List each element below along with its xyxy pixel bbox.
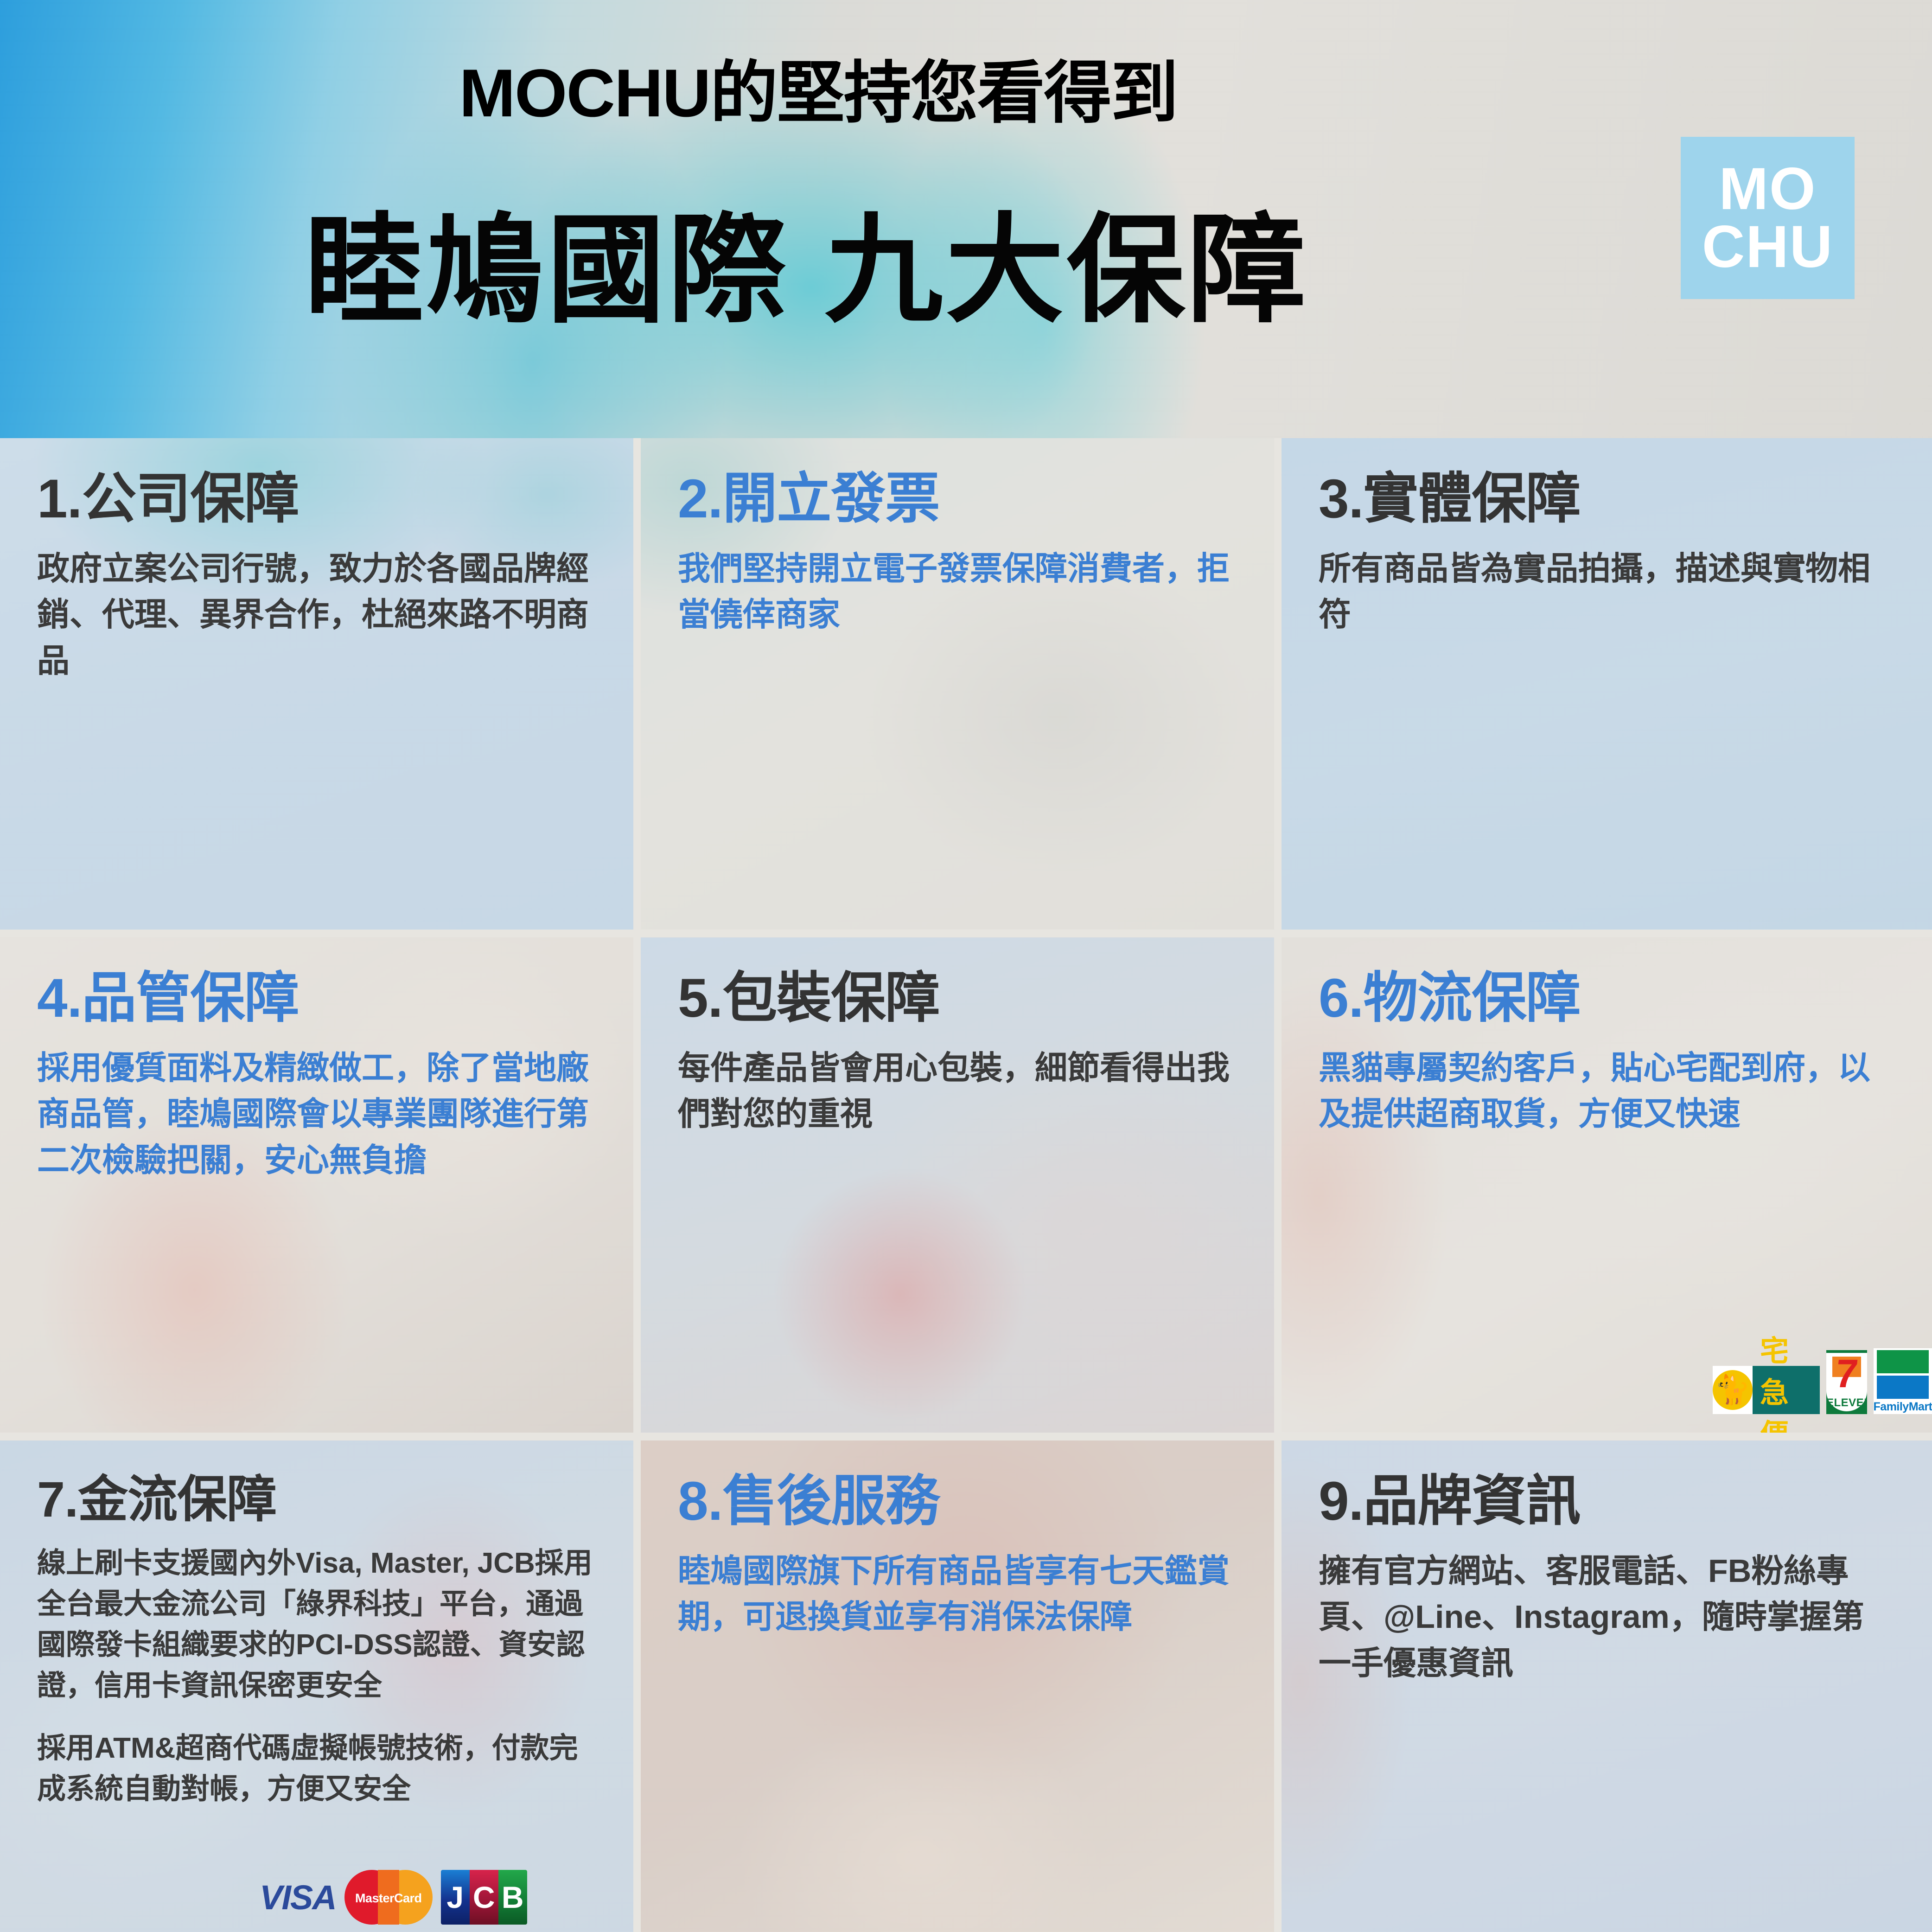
seven-eleven-logo: 7 ELEVEN <box>1826 1350 1867 1414</box>
guarantee-cell-8: 8.售後服務 睦鳩國際旗下所有商品皆享有七天鑑賞期，可退換貨並享有消保法保障 <box>641 1441 1274 1932</box>
mochu-logo-line-2: CHU <box>1702 218 1833 276</box>
familymart-label: FamilyMart <box>1874 1400 1932 1414</box>
guarantee-cell-3: 3.實體保障 所有商品皆為實品拍攝，描述與實物相符 <box>1282 438 1932 930</box>
guarantee-cell-2: 2.開立發票 我們堅持開立電子發票保障消費者，拒當僥倖商家 <box>641 438 1274 930</box>
familymart-logo: FamilyMart <box>1874 1348 1932 1414</box>
guarantee-body-1: 政府立案公司行號，致力於各國品牌經銷、代理、異界合作，杜絕來路不明商品 <box>37 546 596 684</box>
shipping-logo-row: 🐈 宅急便 7 ELEVEN FamilyMart <box>1713 1348 1932 1414</box>
guarantee-title-5: 5.包裝保障 <box>678 970 1237 1027</box>
guarantee-title-6: 6.物流保障 <box>1319 970 1895 1027</box>
black-cat-icon: 🐈 <box>1713 1366 1753 1414</box>
guarantee-body-7b: 採用ATM&超商代碼虛擬帳號技術，付款完成系統自動對帳，方便又安全 <box>37 1728 596 1810</box>
guarantee-body-9: 擁有官方網站、客服電話、FB粉絲專頁、@Line、Instagram，隨時掌握第… <box>1319 1548 1895 1686</box>
guarantee-title-7: 7.金流保障 <box>37 1473 596 1525</box>
guarantee-cell-1: 1.公司保障 政府立案公司行號，致力於各國品牌經銷、代理、異界合作，杜絕來路不明… <box>0 438 633 930</box>
card-logo-row: VISA MasterCard J C B <box>260 1870 527 1925</box>
jcb-logo: J C B <box>441 1870 527 1925</box>
mochu-logo-line-1: MO <box>1719 160 1816 218</box>
yamato-label: 宅急便 <box>1753 1366 1820 1414</box>
guarantee-body-4: 採用優質面料及精緻做工，除了當地廠商品管，睦鳩國際會以專業團隊進行第二次檢驗把關… <box>37 1045 596 1183</box>
guarantee-cell-7: 7.金流保障 線上刷卡支援國內外Visa, Master, JCB採用全台最大金… <box>0 1441 633 1932</box>
guarantee-title-3: 3.實體保障 <box>1319 471 1895 528</box>
seven-eleven-number: 7 <box>1834 1354 1860 1394</box>
guarantee-body-2: 我們堅持開立電子發票保障消費者，拒當僥倖商家 <box>678 546 1237 638</box>
guarantee-cell-5: 5.包裝保障 每件產品皆會用心包裝，細節看得出我們對您的重視 <box>641 937 1274 1433</box>
guarantee-body-6: 黑貓專屬契約客戶，貼心宅配到府，以及提供超商取貨，方便又快速 <box>1319 1045 1895 1137</box>
guarantee-body-5: 每件產品皆會用心包裝，細節看得出我們對您的重視 <box>678 1045 1237 1137</box>
guarantee-body-3: 所有商品皆為實品拍攝，描述與實物相符 <box>1319 546 1895 638</box>
guarantee-body-8: 睦鳩國際旗下所有商品皆享有七天鑑賞期，可退換貨並享有消保法保障 <box>678 1548 1237 1640</box>
guarantee-title-2: 2.開立發票 <box>678 471 1237 528</box>
jcb-letter-j: J <box>446 1882 464 1913</box>
guarantee-title-4: 4.品管保障 <box>37 970 596 1027</box>
infographic-poster: MOCHU的堅持您看得到 睦鳩國際 九大保障 MO CHU 1.公司保障 政府立… <box>0 0 1932 1932</box>
guarantee-title-9: 9.品牌資訊 <box>1319 1473 1895 1530</box>
page-title: 睦鳩國際 九大保障 <box>0 209 1613 333</box>
guarantee-body-7: 線上刷卡支援國內外Visa, Master, JCB採用全台最大金流公司「綠界科… <box>37 1543 596 1706</box>
jcb-letter-b: B <box>502 1882 524 1913</box>
guarantee-title-8: 8.售後服務 <box>678 1473 1237 1530</box>
guarantee-title-1: 1.公司保障 <box>37 471 596 528</box>
seven-eleven-label: ELEVEN <box>1826 1396 1867 1409</box>
jcb-letter-c: C <box>473 1882 495 1913</box>
yamato-logo: 🐈 宅急便 <box>1713 1366 1820 1414</box>
guarantee-cell-6: 6.物流保障 黑貓專屬契約客戶，貼心宅配到府，以及提供超商取貨，方便又快速 🐈 … <box>1282 937 1932 1433</box>
mastercard-logo: MasterCard <box>344 1870 433 1925</box>
familymart-blue-bar <box>1877 1376 1929 1399</box>
familymart-green-bar <box>1877 1350 1929 1373</box>
guarantee-cell-4: 4.品管保障 採用優質面料及精緻做工，除了當地廠商品管，睦鳩國際會以專業團隊進行… <box>0 937 633 1433</box>
header-subtitle: MOCHU的堅持您看得到 <box>0 59 1637 127</box>
mochu-logo: MO CHU <box>1681 137 1855 299</box>
guarantee-cell-9: 9.品牌資訊 擁有官方網站、客服電話、FB粉絲專頁、@Line、Instagra… <box>1282 1441 1932 1932</box>
visa-logo: VISA <box>260 1878 336 1917</box>
guarantee-grid: 1.公司保障 政府立案公司行號，致力於各國品牌經銷、代理、異界合作，杜絕來路不明… <box>0 438 1932 1932</box>
header-banner: MOCHU的堅持您看得到 睦鳩國際 九大保障 MO CHU <box>0 0 1932 438</box>
mastercard-label: MasterCard <box>344 1891 433 1906</box>
